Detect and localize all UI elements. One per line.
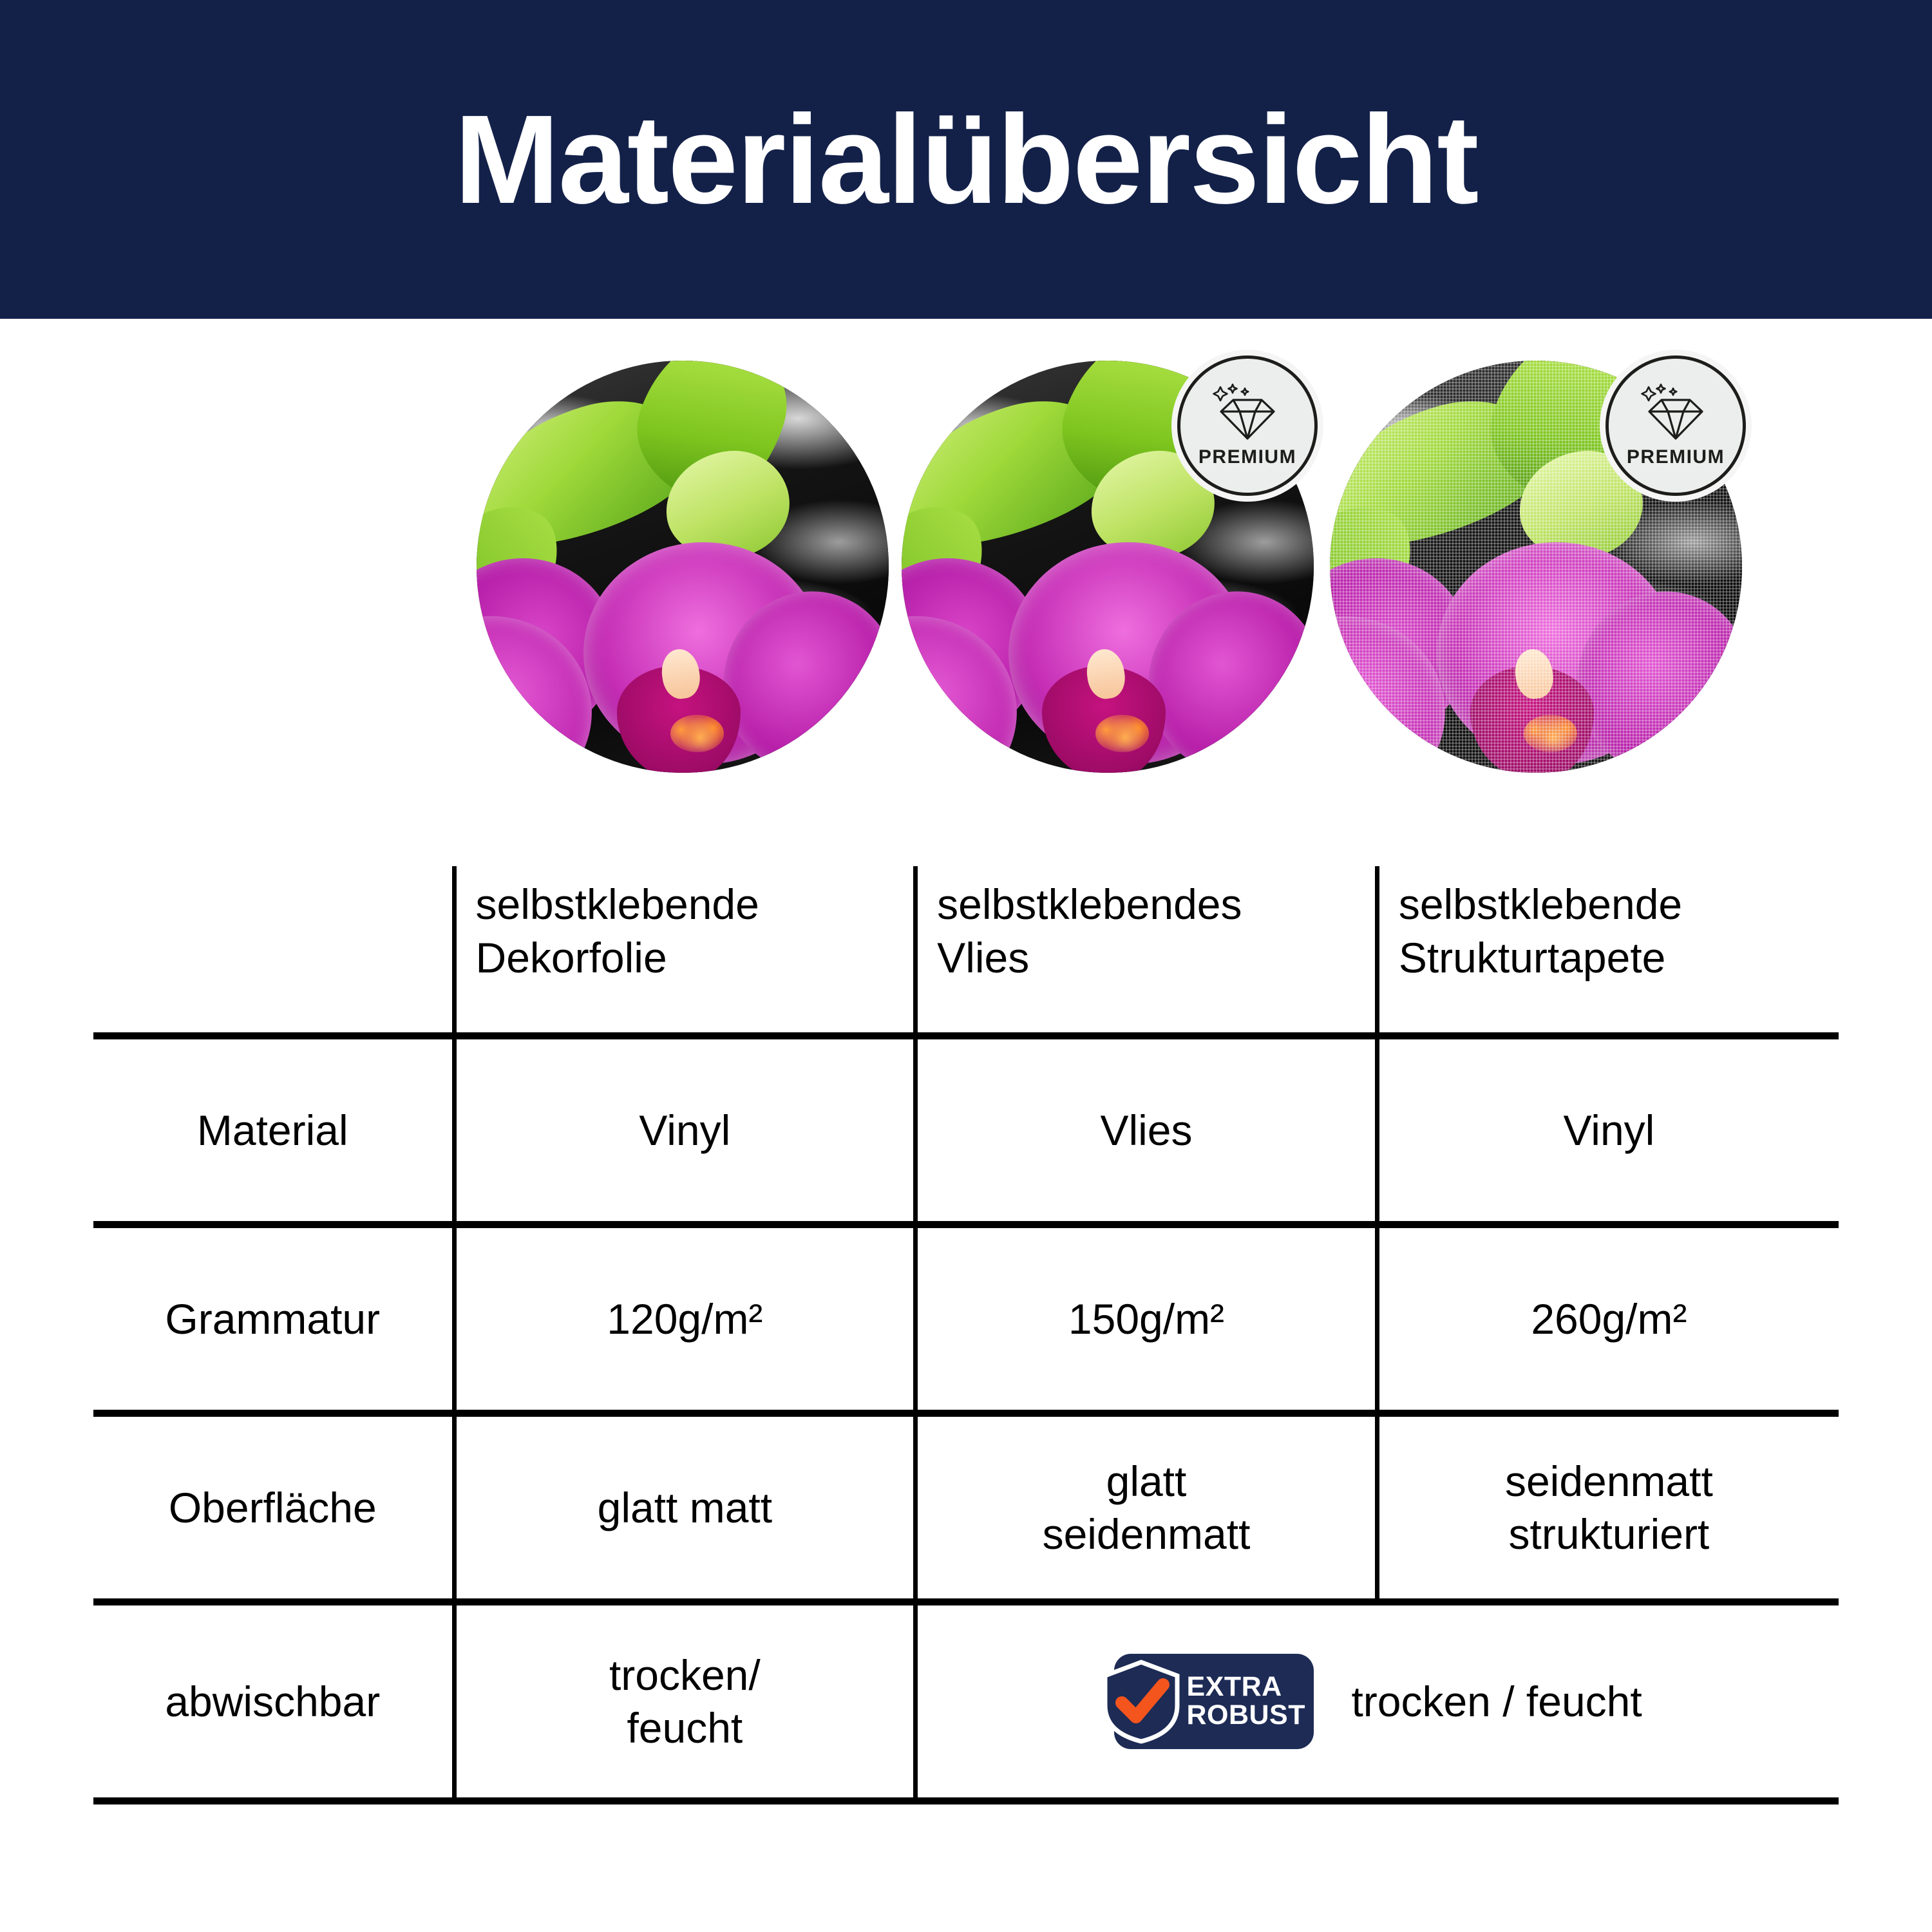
header-line-1: selbstklebendes bbox=[937, 878, 1375, 931]
cell-line-1: trocken/ bbox=[457, 1649, 914, 1702]
extra-robust-label: EXTRA ROBUST bbox=[1186, 1673, 1305, 1730]
cell-line-1: glatt bbox=[918, 1455, 1375, 1508]
table-row: Material Vinyl Vlies Vinyl bbox=[93, 1036, 1839, 1225]
shield-check-icon bbox=[1100, 1659, 1182, 1744]
cell-grammatur-strukturtapete: 260g/m² bbox=[1377, 1225, 1839, 1414]
product-image-row: PREMIUM bbox=[0, 361, 1932, 773]
cell-abwischbar-merged: EXTRA ROBUST trocken / feucht bbox=[916, 1602, 1839, 1801]
cell-abwischbar-dekorfolie: trocken/ feucht bbox=[454, 1602, 916, 1801]
product-image-strukturtapete[interactable]: PREMIUM bbox=[1330, 361, 1742, 773]
row-label-grammatur: Grammatur bbox=[93, 1225, 454, 1414]
cell-oberflaeche-vlies: glatt seidenmatt bbox=[916, 1414, 1378, 1602]
cell-line-2: strukturiert bbox=[1379, 1508, 1839, 1561]
table-row: Oberfläche glatt matt glatt seidenmatt s… bbox=[93, 1414, 1839, 1602]
orchid-photo bbox=[477, 361, 889, 773]
table-row: abwischbar trocken/ feucht bbox=[93, 1602, 1839, 1801]
extra-robust-line-1: EXTRA bbox=[1186, 1671, 1282, 1702]
cell-grammatur-dekorfolie: 120g/m² bbox=[454, 1225, 916, 1414]
premium-badge: PREMIUM bbox=[1177, 355, 1318, 496]
cell-line-1: seidenmatt bbox=[1379, 1455, 1839, 1508]
cell-oberflaeche-dekorfolie: glatt matt bbox=[454, 1414, 916, 1602]
orchid-spots bbox=[670, 715, 724, 752]
orchid-spots bbox=[1095, 715, 1149, 752]
header-line-2: Strukturtapete bbox=[1399, 931, 1839, 985]
table-header-vlies: selbstklebendes Vlies bbox=[916, 866, 1378, 1036]
cell-material-vlies: Vlies bbox=[916, 1036, 1378, 1225]
cell-line-1: glatt matt bbox=[457, 1481, 914, 1535]
header-line-2: Vlies bbox=[937, 931, 1375, 985]
table-header-strukturtapete: selbstklebende Strukturtapete bbox=[1377, 866, 1839, 1036]
table-row: Grammatur 120g/m² 150g/m² 260g/m² bbox=[93, 1225, 1839, 1414]
material-comparison-table: selbstklebende Dekorfolie selbstklebende… bbox=[93, 866, 1839, 1804]
row-label-abwischbar: abwischbar bbox=[93, 1602, 454, 1801]
cell-material-dekorfolie: Vinyl bbox=[454, 1036, 916, 1225]
cell-abwischbar-value: trocken / feucht bbox=[1351, 1675, 1642, 1728]
row-label-material: Material bbox=[93, 1036, 454, 1225]
cell-grammatur-vlies: 150g/m² bbox=[916, 1225, 1378, 1414]
cell-line-2: seidenmatt bbox=[918, 1508, 1375, 1561]
cell-line-2: feucht bbox=[457, 1701, 914, 1755]
product-image-dekorfolie[interactable] bbox=[477, 361, 889, 773]
table-header-row: selbstklebende Dekorfolie selbstklebende… bbox=[93, 866, 1839, 1036]
diamond-icon bbox=[1211, 383, 1283, 442]
extra-robust-badge: EXTRA ROBUST bbox=[1114, 1654, 1314, 1749]
table-header-empty bbox=[93, 866, 454, 1036]
premium-badge: PREMIUM bbox=[1605, 355, 1746, 496]
diamond-icon bbox=[1640, 383, 1712, 442]
header-line-1: selbstklebende bbox=[476, 878, 914, 931]
cell-material-strukturtapete: Vinyl bbox=[1377, 1036, 1839, 1225]
premium-badge-label: PREMIUM bbox=[1198, 446, 1296, 468]
cell-oberflaeche-strukturtapete: seidenmatt strukturiert bbox=[1377, 1414, 1839, 1602]
product-image-vlies[interactable]: PREMIUM bbox=[902, 361, 1314, 773]
page-title: Materialübersicht bbox=[455, 97, 1478, 223]
extra-robust-line-2: ROBUST bbox=[1186, 1700, 1305, 1730]
header-line-1: selbstklebende bbox=[1399, 878, 1839, 931]
premium-badge-label: PREMIUM bbox=[1627, 446, 1725, 468]
header-line-2: Dekorfolie bbox=[476, 931, 914, 985]
page-header: Materialübersicht bbox=[0, 0, 1932, 319]
row-label-oberflaeche: Oberfläche bbox=[93, 1414, 454, 1602]
table-header-dekorfolie: selbstklebende Dekorfolie bbox=[454, 866, 916, 1036]
